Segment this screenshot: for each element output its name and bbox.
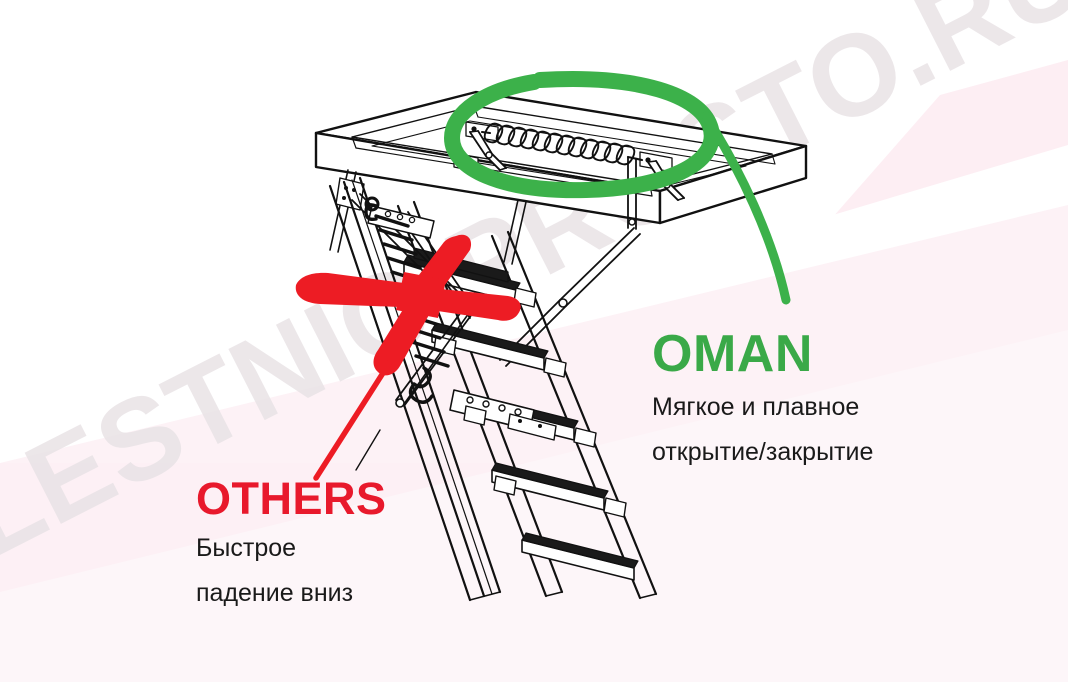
others-subtitle-line2: падение вниз	[196, 576, 387, 611]
oman-title: OMAN	[652, 328, 873, 380]
oman-subtitle-line1: Мягкое и плавное	[652, 390, 873, 425]
others-title: OTHERS	[196, 476, 387, 521]
oman-subtitle-line2: открытие/закрытие	[652, 435, 873, 470]
label-block-others: OTHERS Быстрое падение вниз	[196, 476, 387, 610]
labels-layer: OMAN Мягкое и плавное открытие/закрытие …	[0, 0, 1068, 682]
others-subtitle-line1: Быстрое	[196, 531, 387, 566]
infographic-canvas: LESTNIC-PROSTO.RU	[0, 0, 1068, 682]
label-block-oman: OMAN Мягкое и плавное открытие/закрытие	[652, 328, 873, 469]
